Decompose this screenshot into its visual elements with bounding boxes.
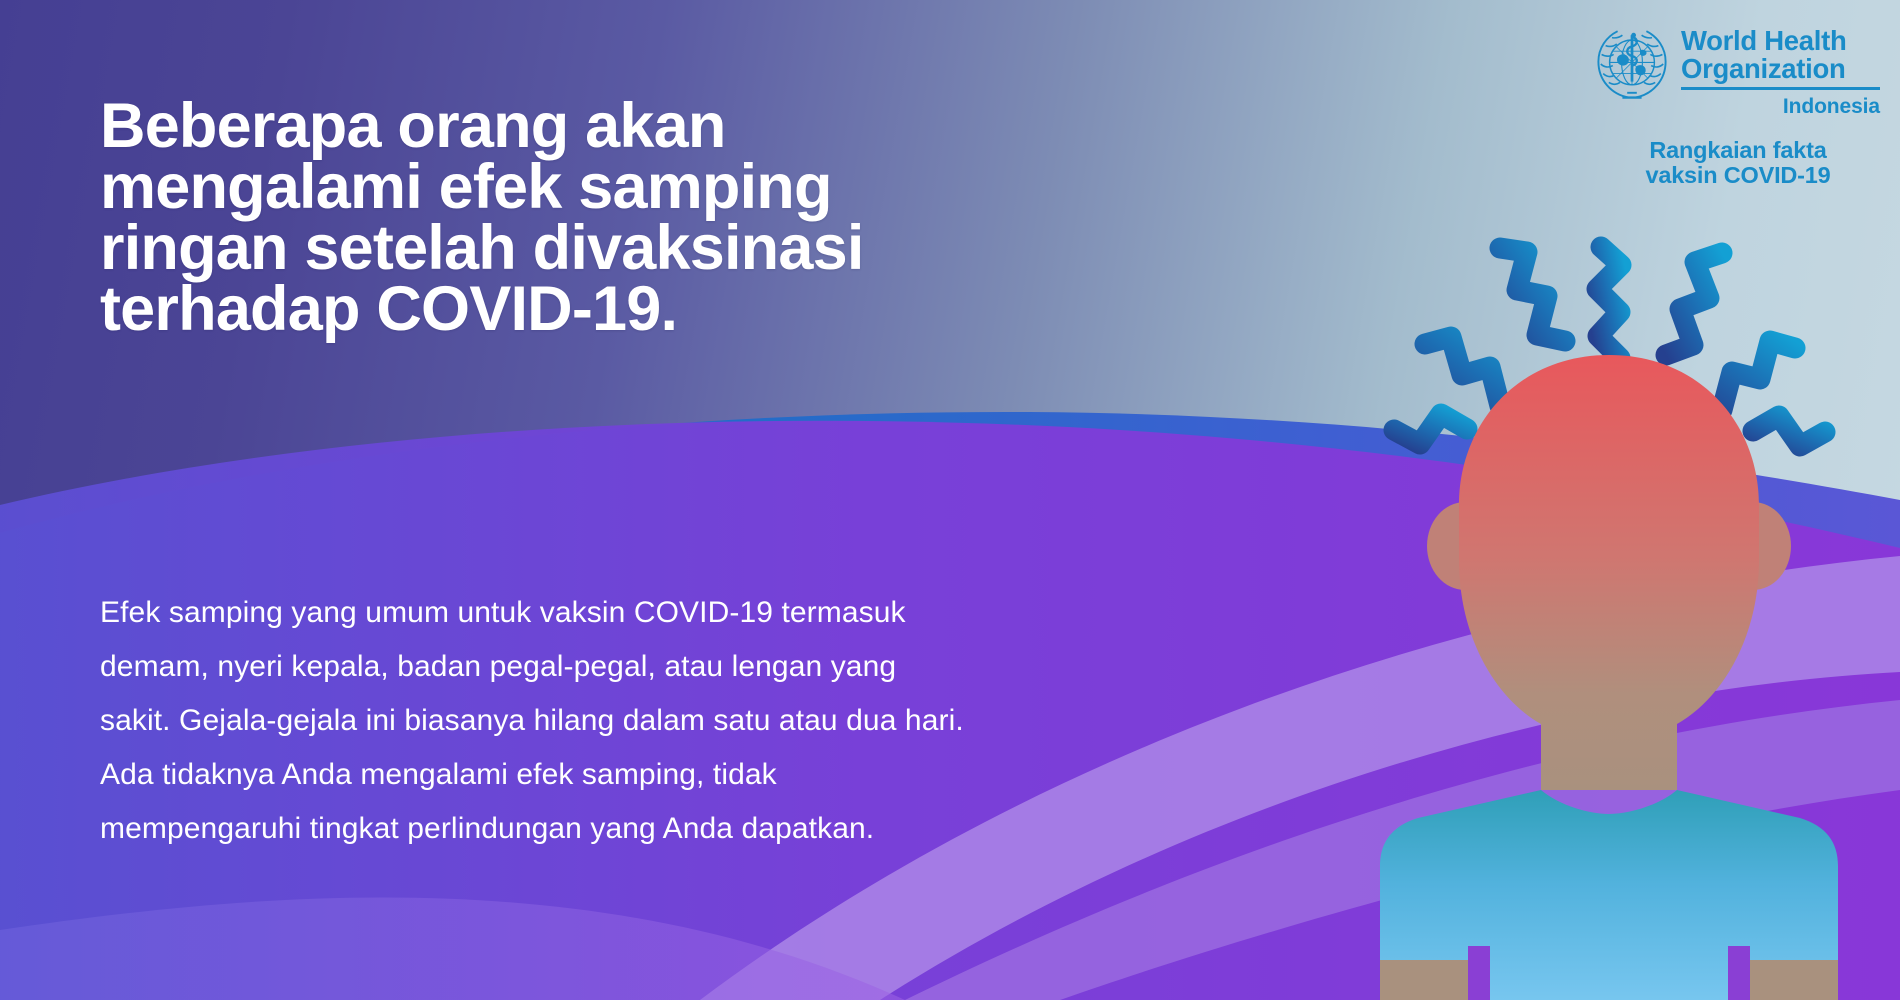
who-wordmark: World Health Organization Indonesia [1681,24,1880,119]
who-emblem-icon [1592,24,1672,104]
arm-gap-right [1728,946,1750,1000]
zigzag-lower-left [1394,414,1467,444]
zigzag-upper-left [1500,248,1565,341]
who-wordmark-line2: Organization [1681,55,1880,83]
who-logo-block: World Health Organization Indonesia Rang… [1592,24,1884,188]
fact-series-label: Rangkaian fakta vaksin COVID-19 [1592,138,1884,188]
arm-left [1380,960,1468,1000]
who-wordmark-line1: World Health [1681,27,1880,55]
arm-gap-left [1468,946,1490,1000]
zigzag-lower-right [1753,416,1825,446]
who-country-label: Indonesia [1681,95,1880,119]
poster-canvas: Beberapa orang akan mengalami efek sampi… [0,0,1900,1000]
poster-body-text: Efek samping yang umum untuk vaksin COVI… [100,586,1240,856]
who-divider-rule [1681,87,1880,90]
head-and-neck [1459,355,1759,790]
zigzag-top-center [1597,247,1621,358]
zigzag-upper-right [1666,253,1722,355]
arm-right [1750,960,1838,1000]
poster-headline: Beberapa orang akan mengalami efek sampi… [100,96,1100,340]
